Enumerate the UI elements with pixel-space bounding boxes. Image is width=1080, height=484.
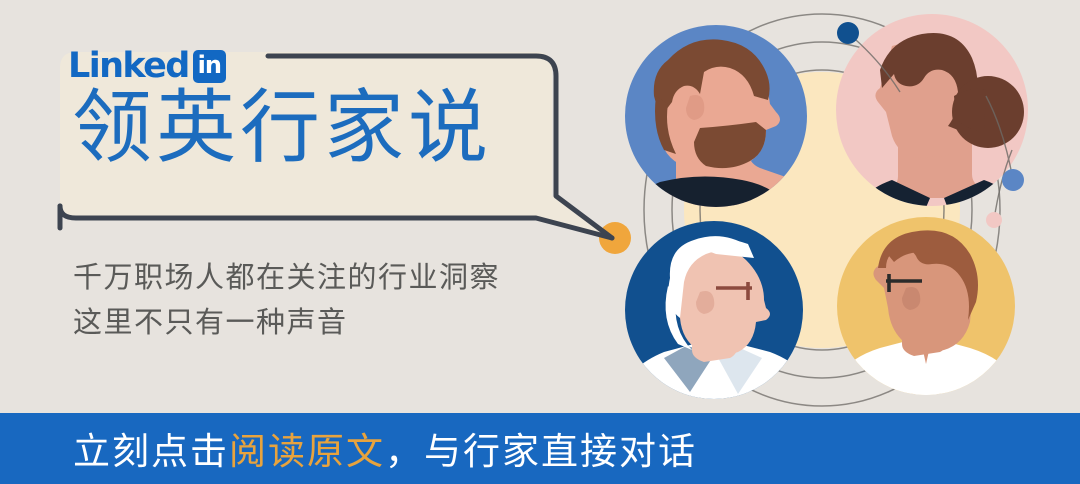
- linkedin-in-badge: in: [193, 50, 226, 83]
- linkedin-in-label: in: [198, 53, 221, 77]
- cta-text: 立刻点击阅读原文，与行家直接对话: [73, 421, 697, 475]
- cta-prefix: 立刻点击: [73, 430, 229, 473]
- cta-suffix: ，与行家直接对话: [385, 430, 697, 473]
- linkedin-wordmark: Linked: [68, 49, 189, 84]
- cta-banner[interactable]: 立刻点击阅读原文，与行家直接对话: [0, 413, 1080, 484]
- poster-root: Linked in 领英行家说 千万职场人都在关注的行业洞察 这里不只有一种声音…: [0, 0, 1080, 484]
- linkedin-logo[interactable]: Linked in: [68, 46, 226, 86]
- subtitle-text: 千万职场人都在关注的行业洞察 这里不只有一种声音: [73, 255, 500, 345]
- dot-blue: [1002, 169, 1024, 191]
- page-title: 领英行家说: [72, 86, 492, 170]
- dot-navy: [837, 22, 859, 44]
- dot-pink: [986, 212, 1002, 228]
- dot-orange: [599, 222, 631, 254]
- cta-link-read-original[interactable]: 阅读原文: [229, 430, 385, 473]
